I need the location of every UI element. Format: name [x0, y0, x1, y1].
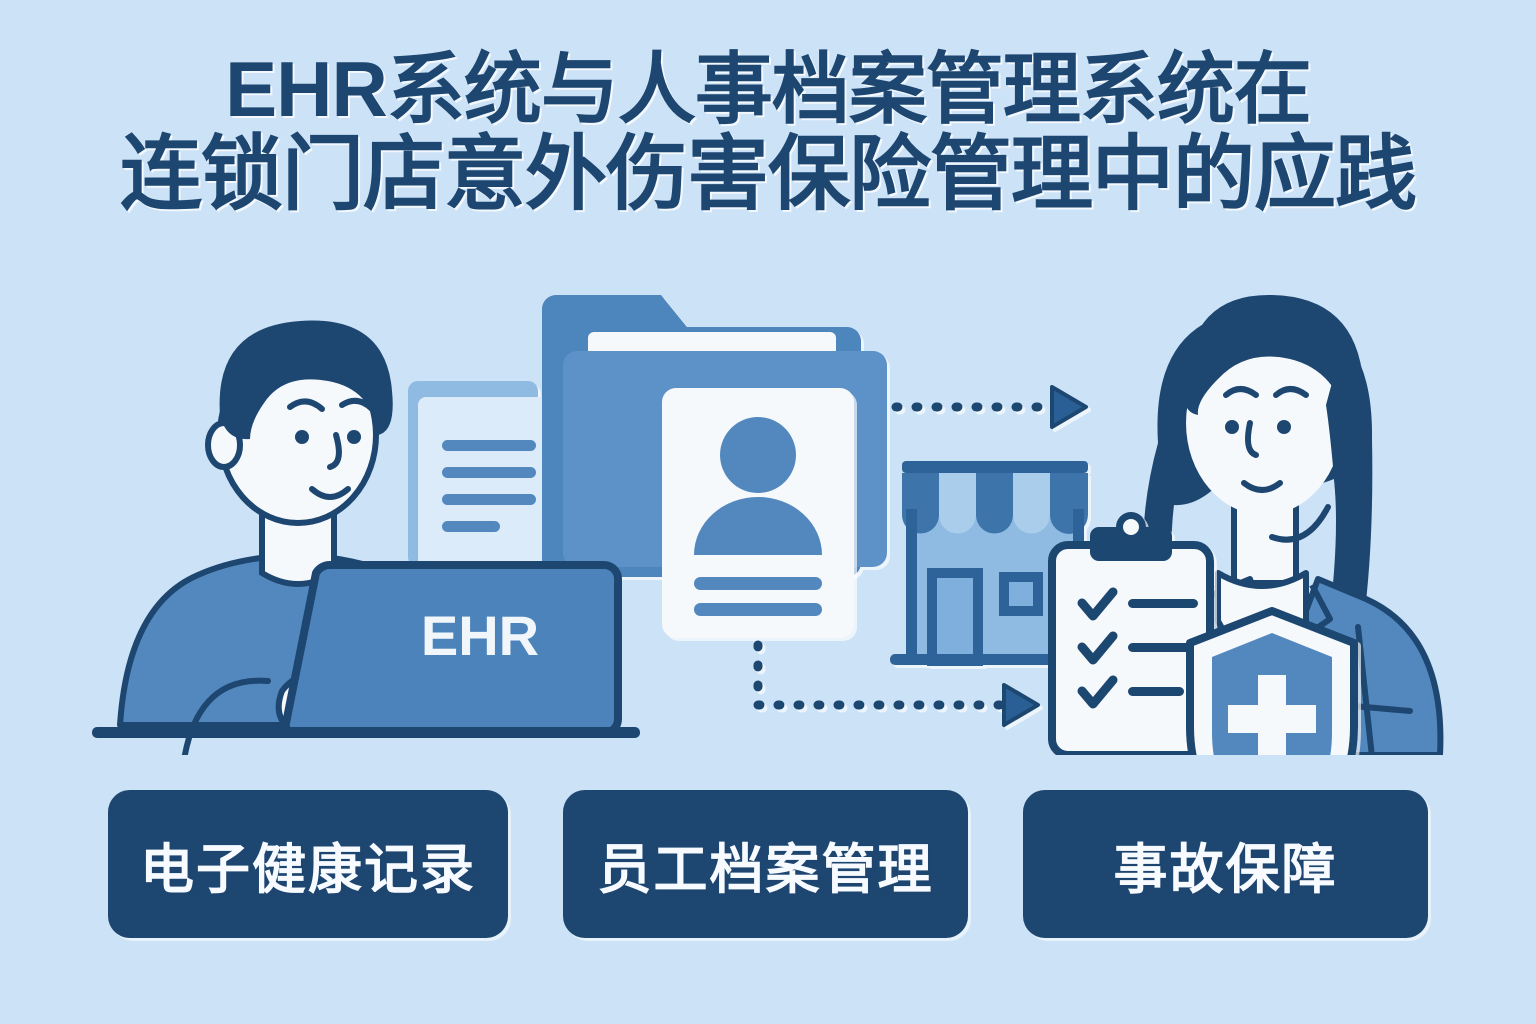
badge-accident-protection[interactable]: 事故保障 [1023, 790, 1428, 938]
page-title-line-2: 连锁门店意外伤害保险管理中的应践 [0, 132, 1536, 218]
document-icon [408, 381, 552, 581]
avatar-head [720, 417, 796, 493]
employee-id-card-icon [662, 388, 854, 638]
flow-arrow-top [896, 387, 1086, 427]
illustration-svg: EHR [0, 255, 1536, 755]
badge-label: 员工档案管理 [598, 825, 934, 904]
medical-shield-icon [1190, 611, 1354, 755]
illustration-stage: EHR [0, 255, 1536, 755]
laptop-screen-label: EHR [421, 604, 539, 667]
badge-employee-file-management[interactable]: 员工档案管理 [563, 790, 968, 938]
awning-stripes [902, 473, 1088, 534]
badge-label: 事故保障 [1114, 825, 1338, 904]
page-title-line-1: EHR系统与人事档案管理系统在 [0, 46, 1536, 132]
badge-row: 电子健康记录 员工档案管理 事故保障 [0, 790, 1536, 940]
poster-canvas: EHR系统与人事档案管理系统在 连锁门店意外伤害保险管理中的应践 [0, 0, 1536, 1024]
badge-label: 电子健康记录 [140, 825, 476, 904]
badge-electronic-health-record[interactable]: 电子健康记录 [108, 790, 508, 938]
page-title: EHR系统与人事档案管理系统在 连锁门店意外伤害保险管理中的应践 [0, 46, 1536, 218]
